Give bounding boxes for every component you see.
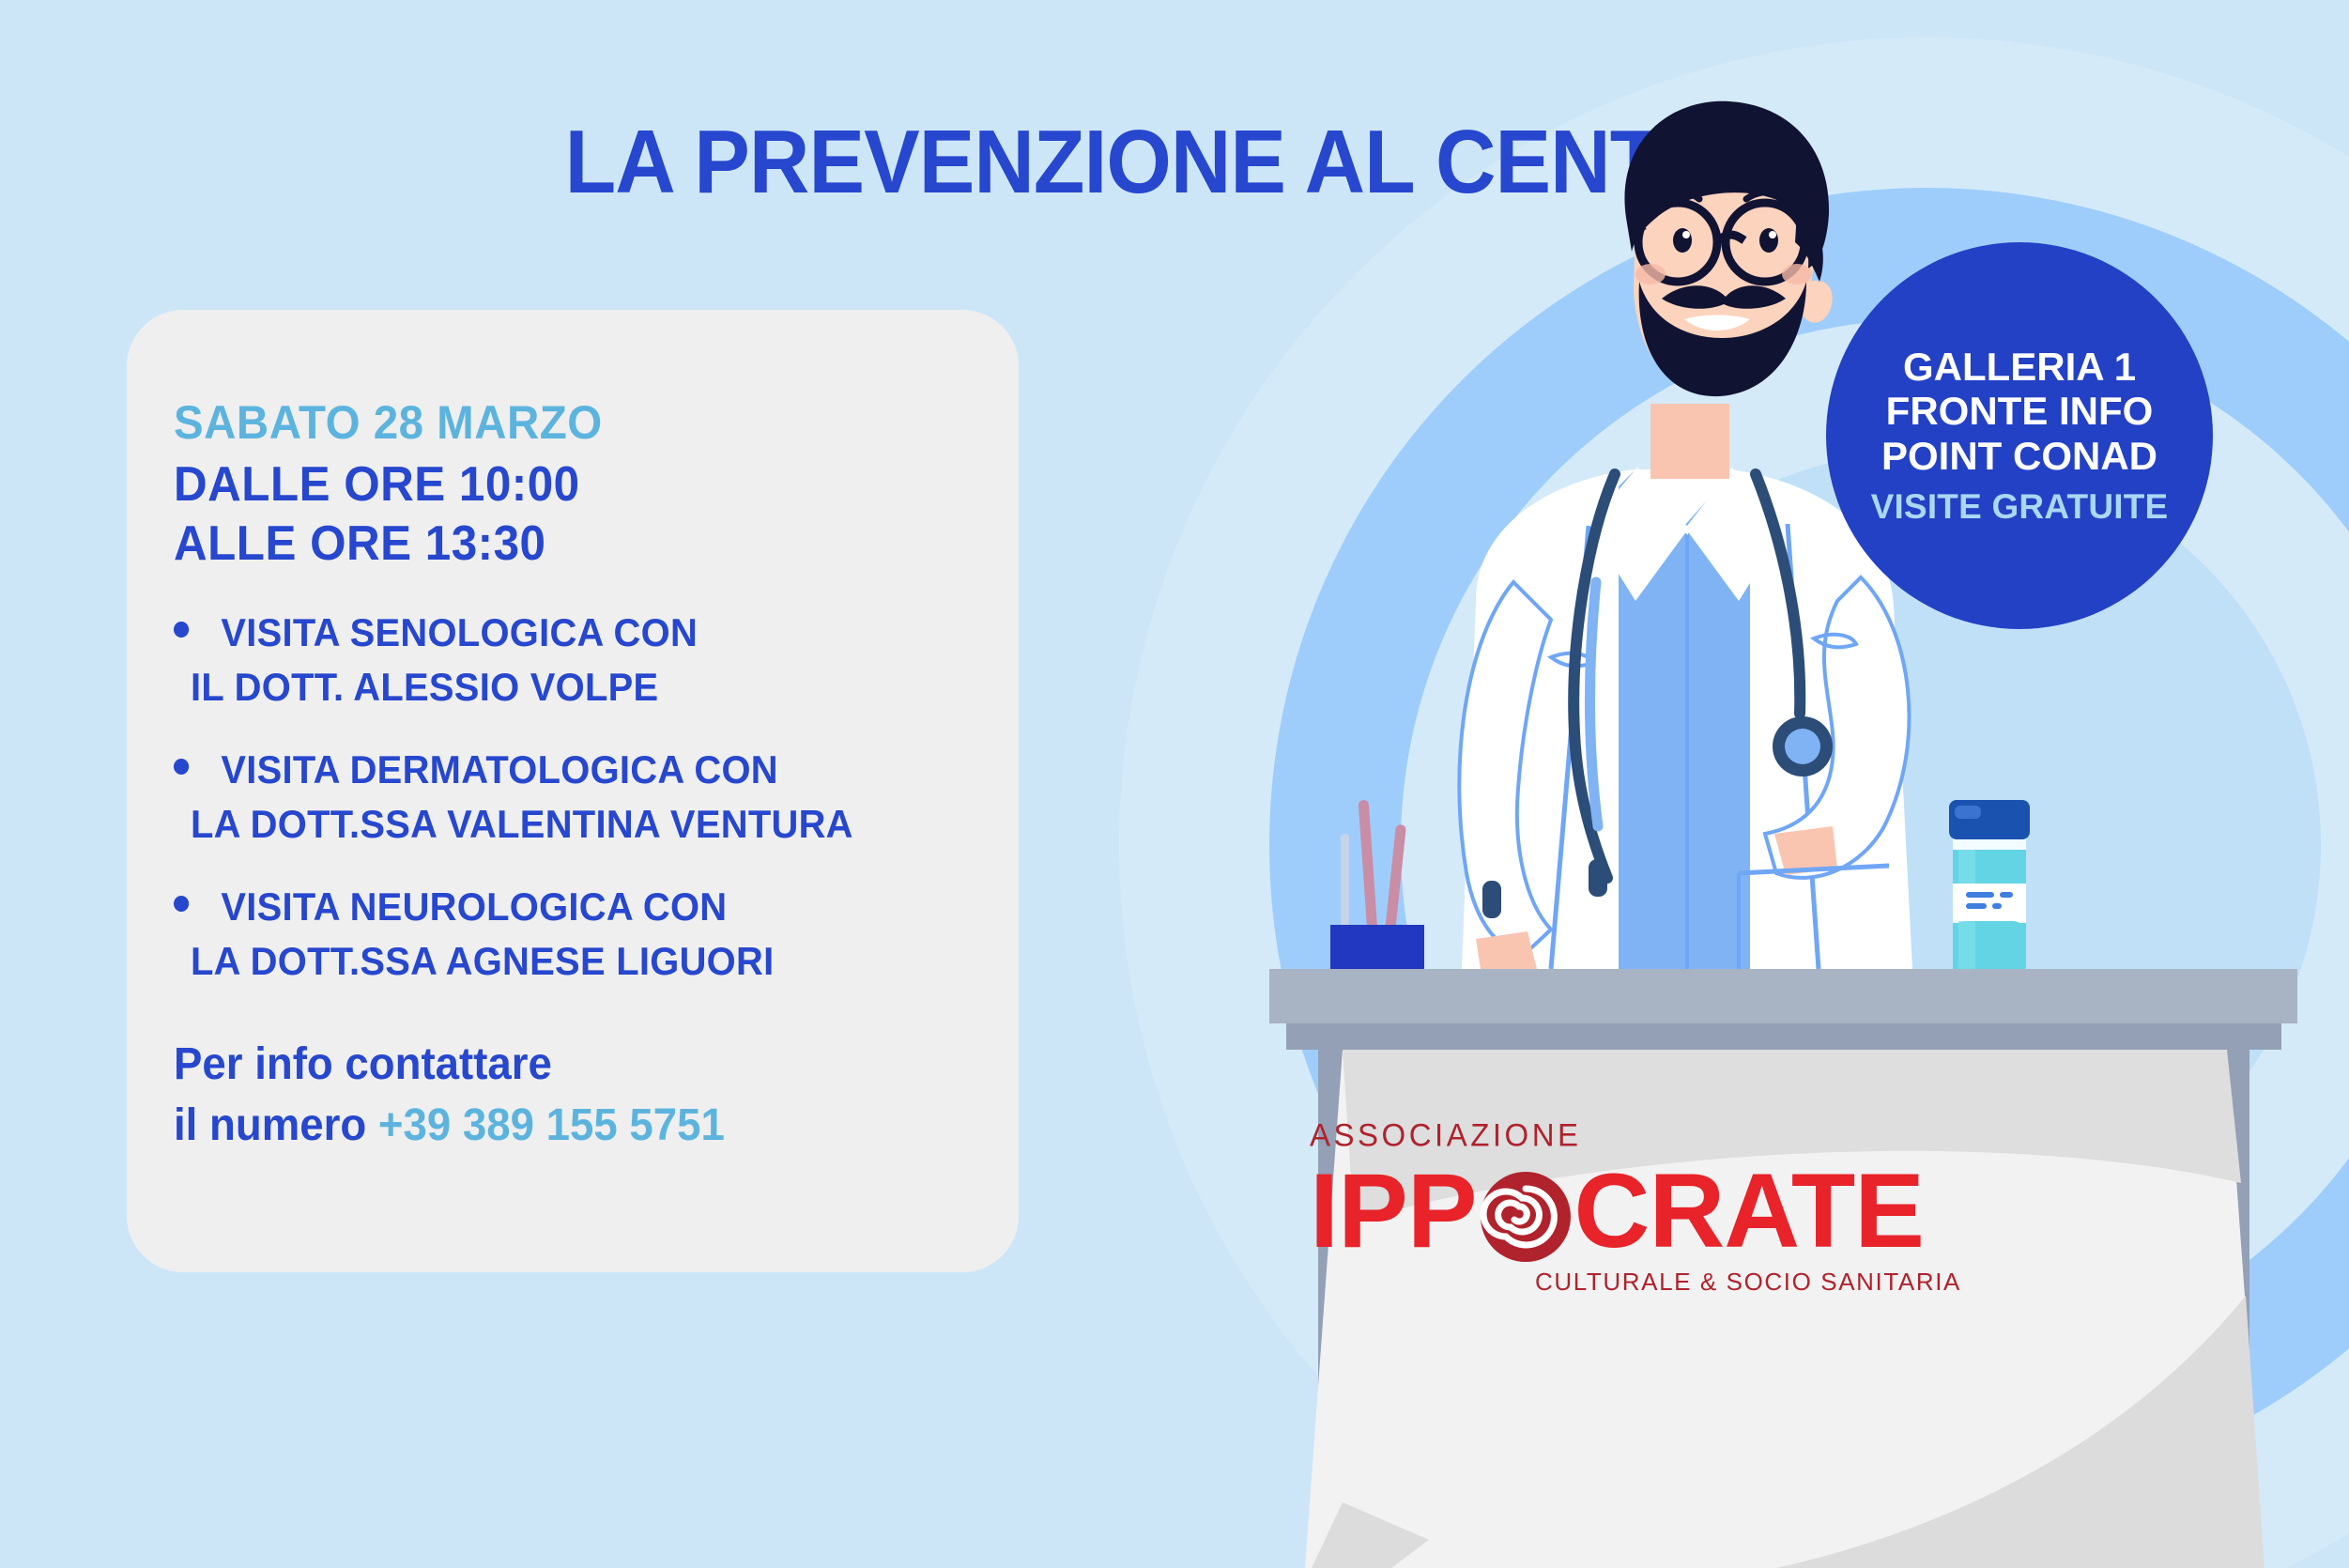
doctor-illustration — [988, 0, 2349, 1568]
service-title: VISITA SENOLOGICA CON — [221, 610, 698, 655]
badge-line-2: FRONTE INFO — [1886, 389, 2154, 433]
list-item: VISITA DERMATOLOGICA CON LA DOTT.SSA VAL… — [174, 747, 990, 847]
badge-line-3: POINT CONAD — [1881, 434, 2157, 478]
location-badge: GALLERIA 1 FRONTE INFO POINT CONAD VISIT… — [1826, 242, 2213, 629]
info-card: SABATO 28 MARZO DALLE ORE 10:00 ALLE ORE… — [127, 310, 1019, 1272]
logo-tagline: CULTURALE & SOCIO SANITARIA — [1310, 1268, 1967, 1297]
service-title: VISITA DERMATOLOGICA CON — [221, 747, 778, 792]
event-date: SABATO 28 MARZO — [174, 399, 950, 446]
phone-number[interactable]: +39 389 155 5751 — [378, 1100, 725, 1150]
bullet-dot-icon — [174, 896, 189, 912]
event-end-time: ALLE ORE 13:30 — [174, 515, 950, 574]
medicine-vial-icon — [1949, 800, 2030, 979]
badge-line-1: GALLERIA 1 — [1903, 345, 2136, 389]
service-doctor: IL DOTT. ALESSIO VOLPE — [191, 665, 950, 710]
bullet-dot-icon — [174, 759, 189, 775]
service-title: VISITA NEUROLOGICA CON — [221, 884, 727, 930]
bullet-dot-icon — [174, 622, 189, 638]
logo-name-after: CRATE — [1574, 1159, 1924, 1264]
badge-free-visits: VISITE GRATUITE — [1871, 487, 2169, 527]
contact-block: Per info contattare il numero +39 389 15… — [174, 1038, 990, 1151]
logo-wordmark: IPPCRATE — [1310, 1159, 1967, 1264]
services-list: VISITA SENOLOGICA CON IL DOTT. ALESSIO V… — [174, 610, 990, 984]
poster: LA PREVENZIONE AL CENTRO — [0, 0, 2349, 1568]
service-doctor: LA DOTT.SSA VALENTINA VENTURA — [191, 802, 950, 847]
service-doctor: LA DOTT.SSA AGNESE LIGUORI — [191, 939, 950, 984]
ippocrate-logo: ASSOCIAZIONE IPPCRATE CULTURALE & SOCIO … — [1310, 1117, 1967, 1297]
doctor-figure — [1459, 101, 1912, 969]
spiral-o-icon — [1477, 1159, 1574, 1264]
logo-name-before: IPP — [1310, 1159, 1477, 1264]
contact-number-label: il numero — [174, 1100, 366, 1150]
list-item: VISITA NEUROLOGICA CON LA DOTT.SSA AGNES… — [174, 884, 990, 984]
event-start-time: DALLE ORE 10:00 — [174, 455, 950, 515]
contact-label: Per info contattare — [174, 1038, 950, 1090]
list-item: VISITA SENOLOGICA CON IL DOTT. ALESSIO V… — [174, 610, 990, 710]
logo-association-label: ASSOCIAZIONE — [1310, 1116, 1967, 1154]
